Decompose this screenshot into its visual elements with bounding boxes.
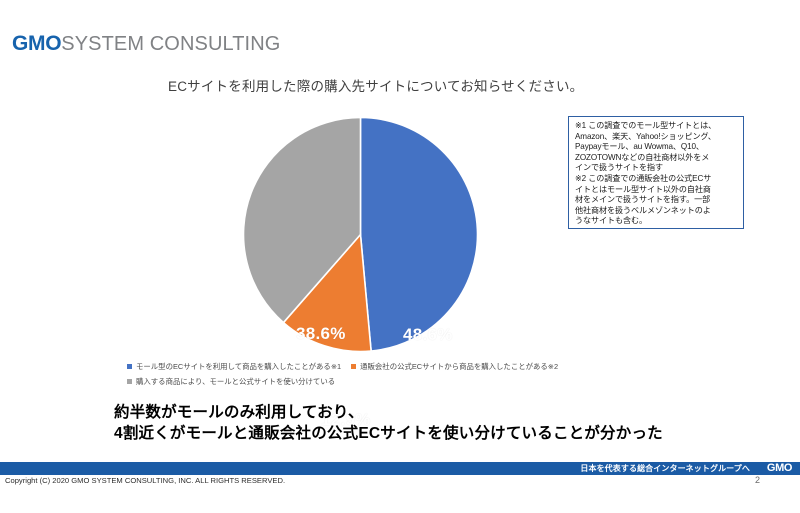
pie-slice-label-0: 48.6% [403,325,453,345]
footer-gmo-logo: GMO [767,462,792,475]
legend-label-2: 購入する商品により、モールと公式サイトを使い分けている [136,376,335,387]
footnote-line: 材をメインで扱うサイトを指す。一部 [575,195,738,206]
footnote-line: ※2 この調査での通販会社の公式ECサ [575,174,738,185]
footnote-line: 他社商材を扱うベルメゾンネットのよ [575,206,738,217]
pie-svg [243,117,478,352]
pie-slice-label-2: 38.6% [296,324,346,344]
footnote-line: インで扱うサイトを指す [575,163,738,174]
conclusion-line-2: 4割近くがモールと通販会社の公式ECサイトを使い分けていることが分かった [114,423,663,444]
page-number: 2 [755,475,760,485]
gmo-logo: GMOSYSTEM CONSULTING [12,33,280,54]
legend-row-2: 購入する商品により、モールと公式サイトを使い分けている [127,376,587,387]
legend-label-0: モール型のECサイトを利用して商品を購入したことがある※1 [136,361,341,372]
legend-swatch-icon [127,364,132,369]
legend-item-0[interactable]: モール型のECサイトを利用して商品を購入したことがある※1 [127,361,341,372]
pie-chart: 48.6% 12.9% 38.6% [225,112,495,357]
legend-swatch-icon [351,364,356,369]
copyright-text: Copyright (C) 2020 GMO SYSTEM CONSULTING… [5,476,285,485]
pie-slice-0[interactable] [361,118,478,352]
footnote-line: Amazon、楽天、Yahoo!ショッピング、 [575,132,738,143]
conclusion-line-1: 約半数がモールのみ利用しており、 [114,402,663,423]
slide: GMOSYSTEM CONSULTING ECサイトを利用した際の購入先サイトに… [0,0,800,513]
logo-gmo-text: GMO [12,32,61,55]
conclusion-text: 約半数がモールのみ利用しており、 4割近くがモールと通販会社の公式ECサイトを使… [114,402,663,444]
logo-system-consulting-text: SYSTEM CONSULTING [61,33,280,55]
legend-item-1[interactable]: 通販会社の公式ECサイトから商品を購入したことがある※2 [351,361,558,372]
footnote-line: Paypayモール、au Wowma、Q10、 [575,142,738,153]
page-title: ECサイトを利用した際の購入先サイトについてお知らせください。 [168,75,583,95]
footnote-line: イトとはモール型サイト以外の自社商 [575,185,738,196]
pie-chart-graphic: 48.6% 12.9% 38.6% [243,117,478,352]
chart-legend: モール型のECサイトを利用して商品を購入したことがある※1 通販会社の公式ECサ… [127,361,587,391]
legend-row-1: モール型のECサイトを利用して商品を購入したことがある※1 通販会社の公式ECサ… [127,361,587,372]
footnote-line: ZOZOTOWNなどの自社商材以外をメ [575,153,738,164]
legend-swatch-icon [127,379,132,384]
footnote-line: ※1 この調査でのモール型サイトとは、 [575,121,738,132]
legend-label-1: 通販会社の公式ECサイトから商品を購入したことがある※2 [360,361,558,372]
footnote-box: ※1 この調査でのモール型サイトとは、 Amazon、楽天、Yahoo!ショッピ… [568,116,744,229]
footnote-line: うなサイトも含む。 [575,216,738,227]
footer-tagline: 日本を代表する総合インターネットグループへ [580,463,750,474]
legend-item-2[interactable]: 購入する商品により、モールと公式サイトを使い分けている [127,376,335,387]
